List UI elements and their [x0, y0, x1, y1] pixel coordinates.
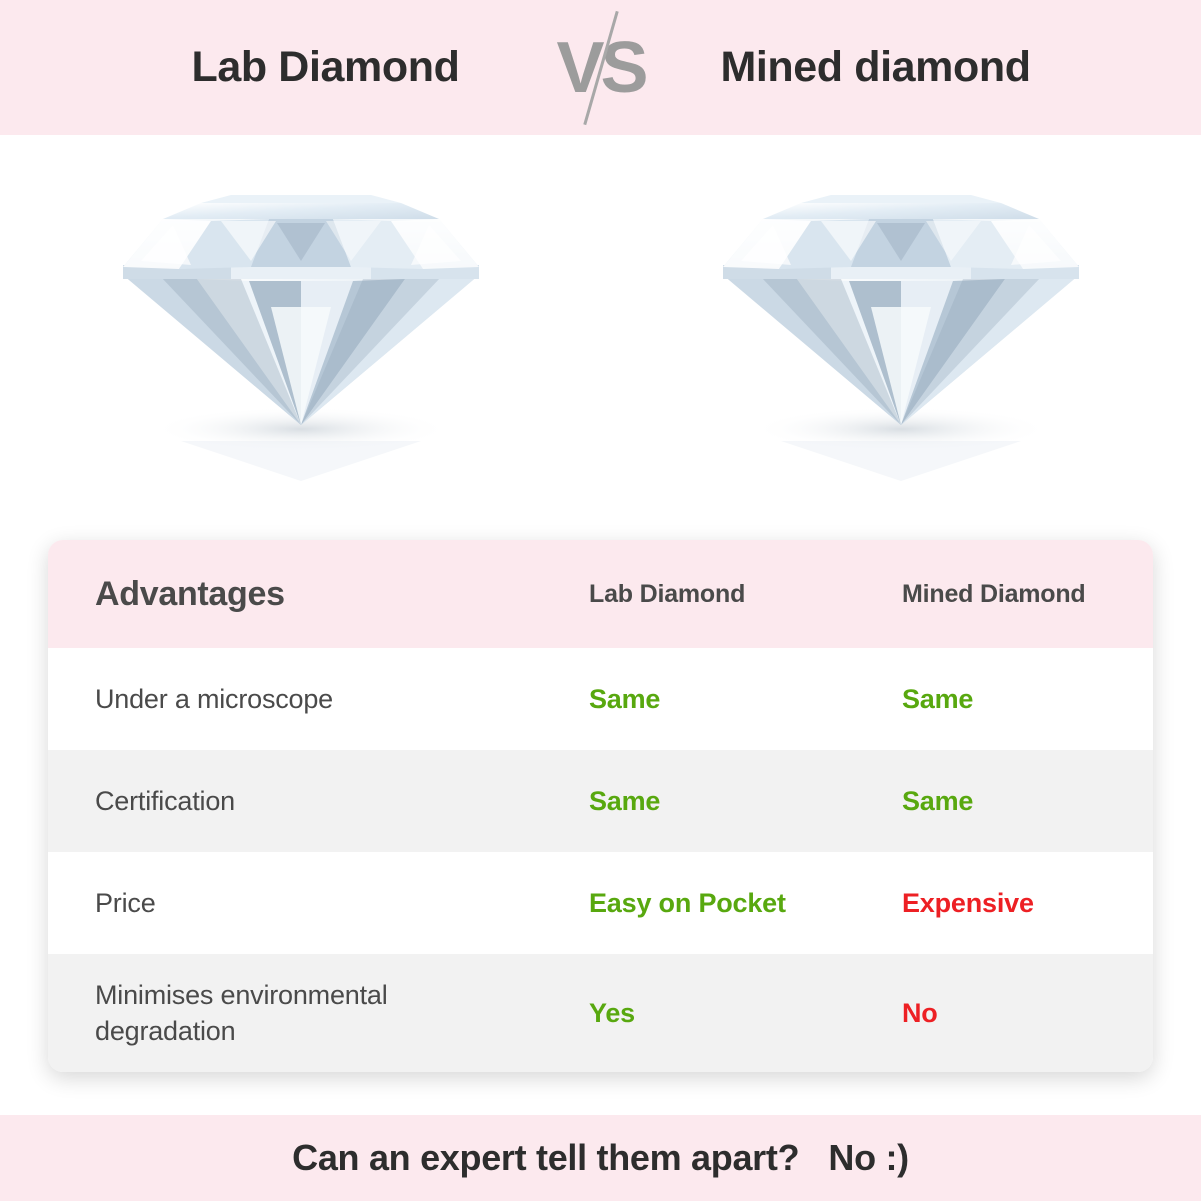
- footer-band: Can an expert tell them apart? No :): [0, 1115, 1201, 1201]
- footer-answer: No :): [828, 1137, 908, 1179]
- cell-mined-value: Same: [872, 786, 1153, 817]
- cell-lab-value: Same: [541, 786, 872, 817]
- cell-mined-value: No: [872, 998, 1153, 1029]
- vs-badge: VS: [541, 8, 661, 128]
- header-label-advantages: Advantages: [95, 575, 285, 613]
- mined-diamond-slot: [601, 135, 1201, 535]
- mined-value: Same: [902, 684, 973, 714]
- diamond-icon: [701, 157, 1101, 487]
- lab-value: Yes: [589, 998, 635, 1028]
- footer-spacer: [799, 1137, 828, 1179]
- cell-mined-value: Expensive: [872, 888, 1153, 919]
- cell-feature: Price: [48, 885, 541, 921]
- header-title-lab: Lab Diamond: [111, 43, 541, 92]
- table-body: Under a microscope Same Same Certificati…: [48, 648, 1153, 1072]
- comparison-table-card: Advantages Lab Diamond Mined Diamond Und…: [48, 540, 1153, 1072]
- table-row: Minimises environmental degradation Yes …: [48, 954, 1153, 1072]
- comparison-infographic: Lab Diamond VS Mined diamond: [0, 0, 1201, 1201]
- table-row: Certification Same Same: [48, 750, 1153, 852]
- lab-value: Same: [589, 786, 660, 816]
- feature-label: Certification: [95, 786, 235, 816]
- cell-feature: Under a microscope: [48, 681, 541, 717]
- table-header-row: Advantages Lab Diamond Mined Diamond: [48, 540, 1153, 648]
- feature-label: Under a microscope: [95, 684, 333, 714]
- cell-feature: Minimises environmental degradation: [48, 977, 541, 1049]
- cell-lab-value: Easy on Pocket: [541, 888, 872, 919]
- mined-value: No: [902, 998, 938, 1028]
- mined-value: Expensive: [902, 888, 1034, 918]
- lab-value: Easy on Pocket: [589, 888, 786, 918]
- header-cell-advantages: Advantages: [48, 575, 541, 614]
- mined-value: Same: [902, 786, 973, 816]
- cell-lab-value: Same: [541, 684, 872, 715]
- feature-label: Price: [95, 888, 156, 918]
- table-row: Under a microscope Same Same: [48, 648, 1153, 750]
- diamond-icon: [101, 157, 501, 487]
- header-cell-lab: Lab Diamond: [541, 580, 872, 609]
- header-label-lab: Lab Diamond: [589, 580, 745, 608]
- lab-diamond-slot: [1, 135, 601, 535]
- cell-feature: Certification: [48, 783, 541, 819]
- diamond-images: [0, 135, 1201, 535]
- feature-label: Minimises environmental degradation: [95, 980, 388, 1046]
- lab-value: Same: [589, 684, 660, 714]
- header-title-mined: Mined diamond: [661, 43, 1091, 92]
- header-band: Lab Diamond VS Mined diamond: [0, 0, 1201, 135]
- table-row: Price Easy on Pocket Expensive: [48, 852, 1153, 954]
- cell-mined-value: Same: [872, 684, 1153, 715]
- header-cell-mined: Mined Diamond: [872, 580, 1153, 609]
- cell-lab-value: Yes: [541, 998, 872, 1029]
- header-label-mined: Mined Diamond: [902, 580, 1086, 608]
- footer-question: Can an expert tell them apart?: [292, 1137, 799, 1179]
